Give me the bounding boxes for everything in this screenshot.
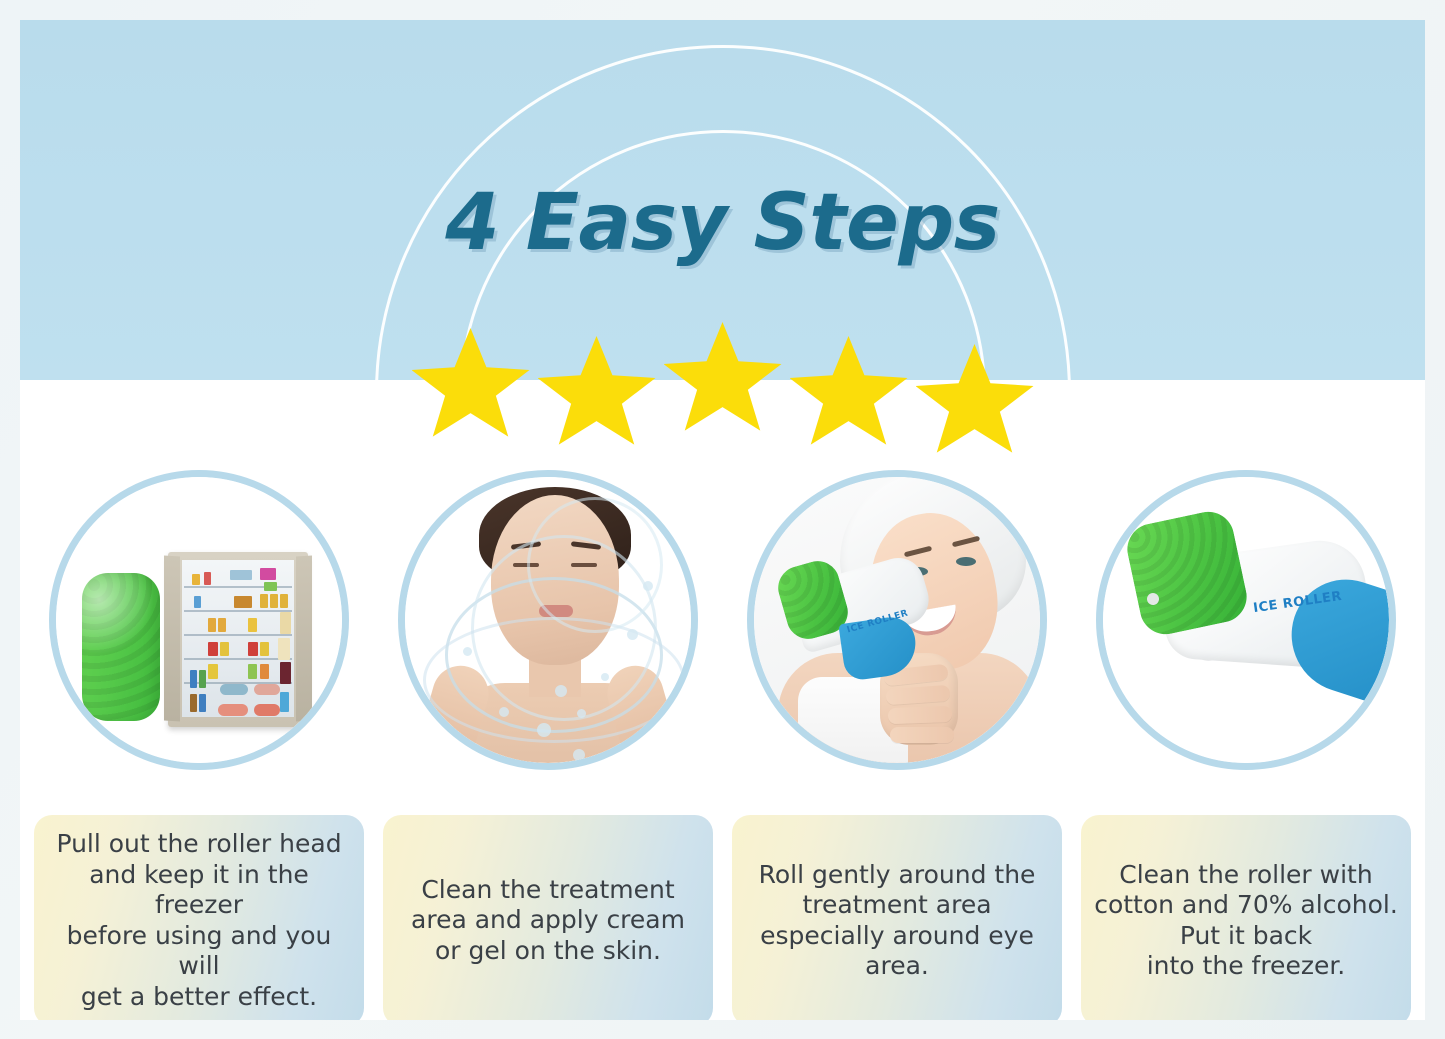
- step-1-caption-panel: Pull out the roller head and keep it in …: [34, 815, 364, 1020]
- step-3: ICE ROLLER: [732, 470, 1062, 770]
- step-3-caption-panel: Roll gently around the treatment area es…: [732, 815, 1062, 1020]
- step-4-photo: ICE ROLLER: [1096, 470, 1396, 770]
- refrigerator-icon: [168, 552, 308, 727]
- step-2-caption-text: Clean the treatment area and apply cream…: [411, 875, 685, 967]
- roller-head-and-fridge-image: [56, 477, 342, 763]
- poster-card: 4 Easy Steps: [20, 20, 1425, 1020]
- page-title: 4 Easy Steps: [20, 178, 1425, 268]
- step-1: [34, 470, 364, 770]
- ice-roller-head: [1123, 507, 1252, 639]
- step-3-caption-text: Roll gently around the treatment area es…: [759, 860, 1036, 982]
- step-3-photo: ICE ROLLER: [747, 470, 1047, 770]
- poster-page: 4 Easy Steps: [0, 0, 1445, 1039]
- woman-using-roller-image: ICE ROLLER: [754, 477, 1040, 763]
- ice-roller-product-image: ICE ROLLER: [1103, 477, 1389, 763]
- roller-head-icon: [82, 573, 160, 721]
- step-4: ICE ROLLER: [1081, 470, 1411, 770]
- step-4-caption-text: Clean the roller with cotton and 70% alc…: [1094, 860, 1398, 982]
- step-1-caption-text: Pull out the roller head and keep it in …: [46, 829, 352, 1012]
- step-1-photo: [49, 470, 349, 770]
- step-2-photo: [398, 470, 698, 770]
- step-2-caption-panel: Clean the treatment area and apply cream…: [383, 815, 713, 1020]
- step-2: [383, 470, 713, 770]
- water-splash-face-image: [405, 477, 691, 763]
- step-caption-row: Pull out the roller head and keep it in …: [20, 815, 1425, 1020]
- step-4-caption-panel: Clean the roller with cotton and 70% alc…: [1081, 815, 1411, 1020]
- step-image-row: ICE ROLLER ICE ROLLER: [20, 470, 1425, 770]
